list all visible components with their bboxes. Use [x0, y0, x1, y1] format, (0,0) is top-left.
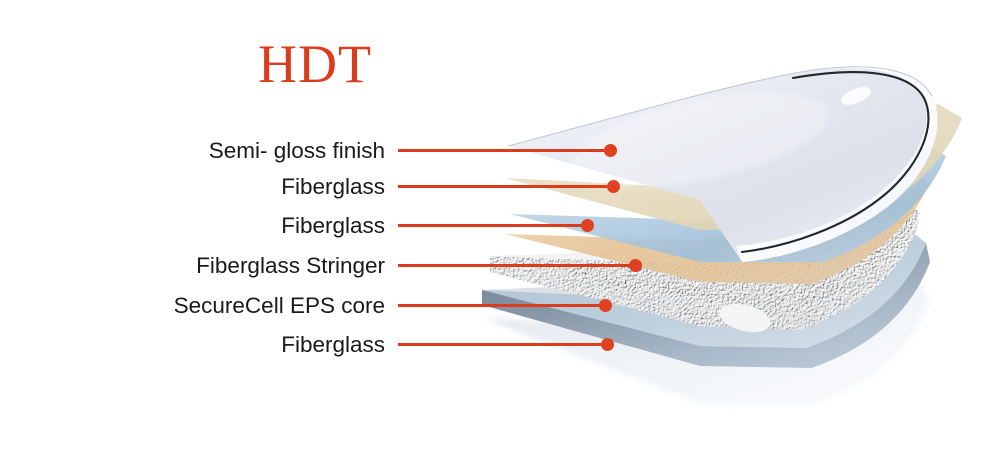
callout-row: SecureCell EPS core: [0, 293, 1000, 319]
callout-leader-dot[interactable]: [581, 219, 594, 232]
callout-list: Semi- gloss finish Fiberglass Fiberglass…: [0, 0, 1000, 466]
callout-leader-line: [398, 343, 607, 346]
callout-label-fiberglass-bottom: Fiberglass: [281, 332, 385, 358]
callout-label-wrap: Fiberglass: [0, 213, 385, 239]
callout-row: Fiberglass: [0, 174, 1000, 200]
callout-leader-dot[interactable]: [604, 144, 617, 157]
callout-label-fiberglass-stringer: Fiberglass Stringer: [196, 253, 385, 279]
callout-leader-dot[interactable]: [601, 338, 614, 351]
callout-leader-dot[interactable]: [629, 259, 642, 272]
callout-label-fiberglass-upper: Fiberglass: [281, 174, 385, 200]
callout-label-securecell-eps-core: SecureCell EPS core: [174, 293, 385, 319]
callout-row: Semi- gloss finish: [0, 138, 1000, 164]
callout-leader-line: [398, 264, 635, 267]
callout-label-semi-gloss-finish: Semi- gloss finish: [209, 138, 385, 164]
callout-leader-line: [398, 304, 605, 307]
callout-label-wrap: Fiberglass: [0, 174, 385, 200]
callout-row: Fiberglass Stringer: [0, 253, 1000, 279]
callout-label-fiberglass-mid: Fiberglass: [281, 213, 385, 239]
diagram-canvas: HDT: [0, 0, 1000, 466]
callout-label-wrap: Fiberglass Stringer: [0, 253, 385, 279]
callout-label-wrap: SecureCell EPS core: [0, 293, 385, 319]
callout-row: Fiberglass: [0, 213, 1000, 239]
callout-leader-line: [398, 224, 587, 227]
callout-leader-line: [398, 185, 613, 188]
callout-leader-dot[interactable]: [599, 299, 612, 312]
callout-leader-line: [398, 149, 610, 152]
callout-row: Fiberglass: [0, 332, 1000, 358]
callout-label-wrap: Fiberglass: [0, 332, 385, 358]
callout-leader-dot[interactable]: [607, 180, 620, 193]
callout-label-wrap: Semi- gloss finish: [0, 138, 385, 164]
